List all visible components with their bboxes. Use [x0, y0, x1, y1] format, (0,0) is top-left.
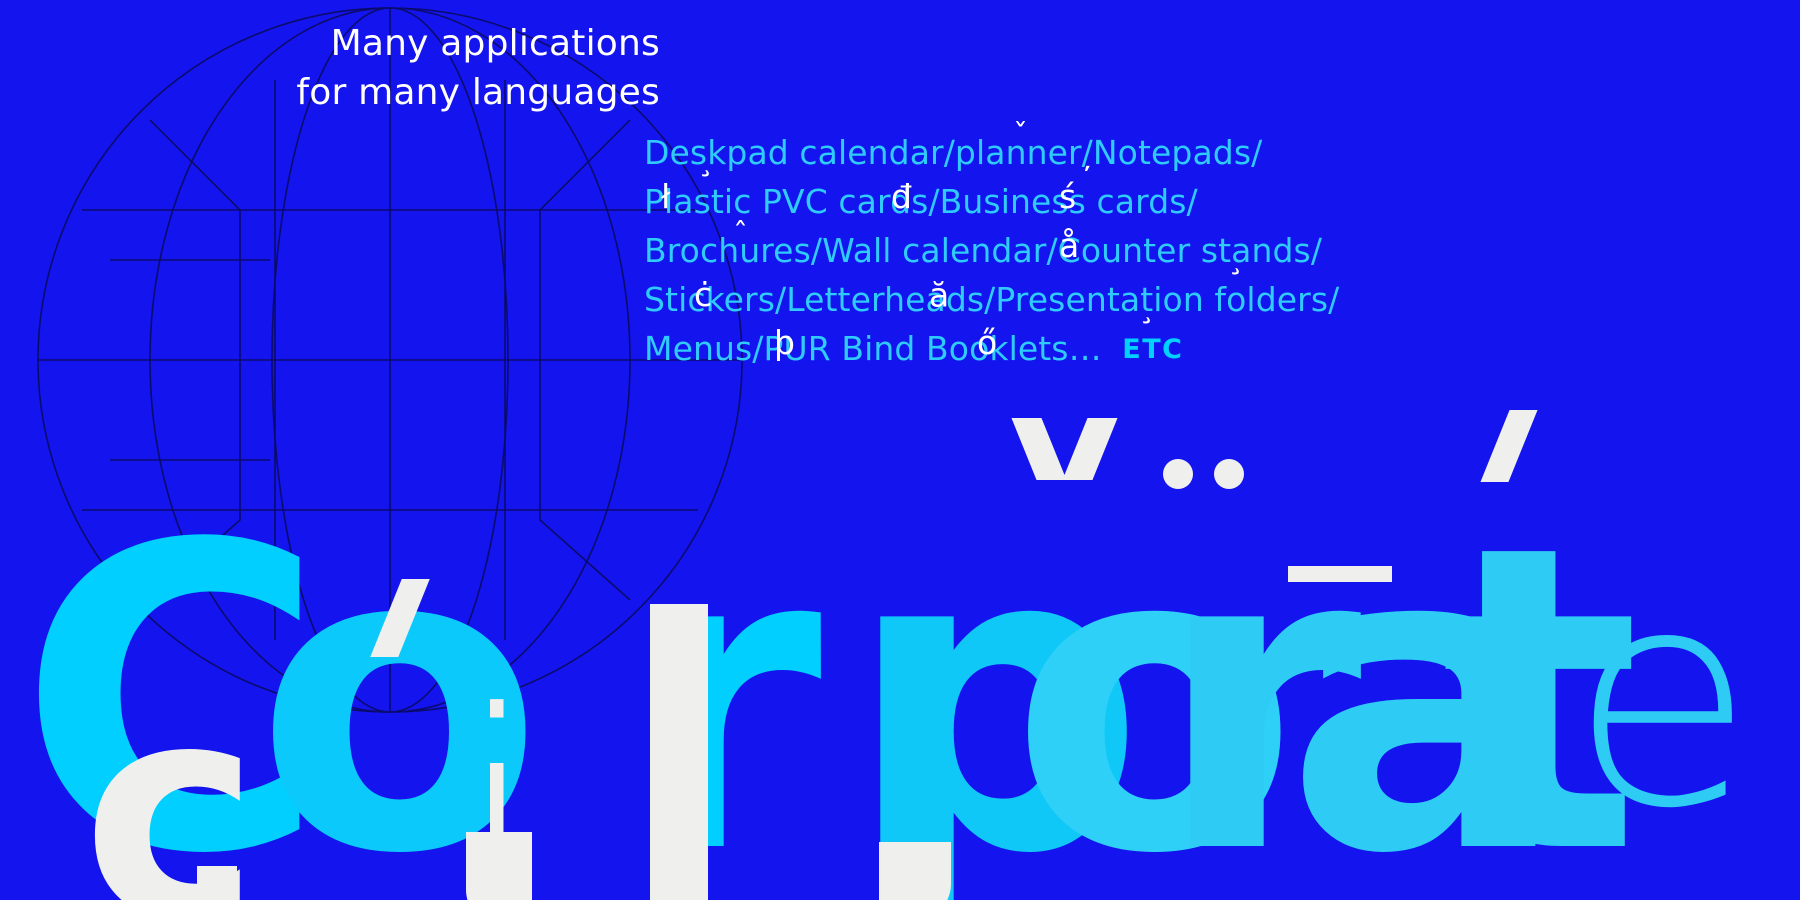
list-item-text: Stickers/Letterheads/Presentation folder… [644, 280, 1339, 319]
page-title: Many applications for many languages [0, 20, 660, 117]
display-diacritic-stroke-icon [650, 728, 708, 900]
list-item-text: Deskpad calendar/planner/Notepads/ [644, 133, 1262, 172]
poster-canvas: Many applications for many languages Des… [0, 0, 1800, 900]
display-diacritic-dieresis-left-icon [1163, 459, 1193, 489]
display-diacritic-hook-icon [879, 842, 951, 900]
list-item: Menus/PUR Bind Booklets… ETC þ ő [644, 324, 1764, 374]
applications-list: Deskpad calendar/planner/Notepads/ ̧ ˇ ̦… [644, 128, 1764, 374]
display-diacritic-dieresis-right-icon [1214, 459, 1244, 489]
diacritic-acute-icon: ś [1059, 180, 1076, 213]
etc-badge: ETC [1122, 325, 1183, 374]
diacritic-double-acute-icon: ő [977, 326, 997, 359]
diacritic-circumflex-icon: ˆ [733, 220, 748, 250]
diacritic-ring-above-icon: å [1059, 229, 1079, 262]
display-diacritic-cedilla-icon: ç [82, 664, 260, 900]
list-item: Deskpad calendar/planner/Notepads/ ̧ ˇ ̦ [644, 128, 1764, 177]
list-item-text: Plastic PVC cards/Business cards/ [644, 182, 1198, 221]
display-diacritic-comma-icon [197, 866, 237, 900]
display-word-corporate: C o r p o r a t e ç j ̧ [0, 432, 1800, 900]
diacritic-lstroke-icon: ł [661, 180, 670, 213]
diacritic-dstroke-icon: đ [891, 180, 912, 213]
display-glyph-r: r [615, 492, 812, 900]
diacritic-comma-below-icon: ̦ [1089, 135, 1096, 168]
diacritic-dot-above-icon: ċ [694, 278, 712, 311]
diacritic-thorn-icon: þ [774, 326, 795, 359]
list-item: Stickers/Letterheads/Presentation folder… [644, 275, 1764, 324]
display-diacritic-block-icon [650, 604, 708, 734]
display-glyph-e: e [1570, 550, 1745, 850]
list-item-text: Menus/PUR Bind Booklets… [644, 329, 1102, 368]
diacritic-caron-icon: ˇ [1013, 121, 1028, 151]
list-item: Plastic PVC cards/Business cards/ ł đ ś [644, 177, 1764, 226]
display-diacritic-j-icon: j [455, 674, 538, 900]
display-diacritic-macron-icon [1288, 566, 1392, 582]
list-item: Brochures/Wall calendar/Counter stands/ … [644, 226, 1764, 275]
diacritic-breve-icon: ă [929, 278, 949, 311]
